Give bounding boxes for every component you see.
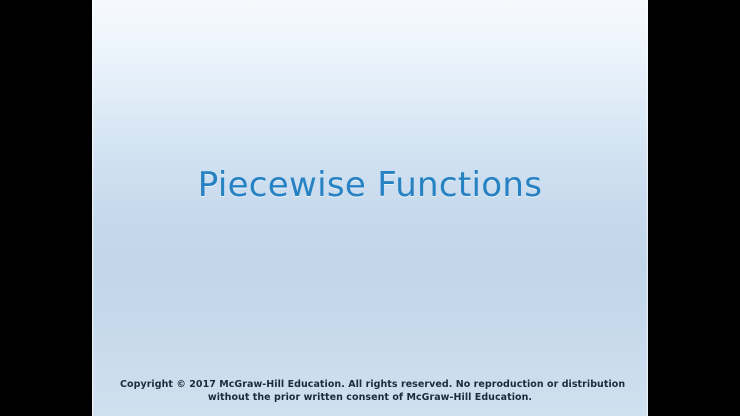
letterbox-bar-right bbox=[648, 0, 740, 416]
copyright-notice: Copyright © 2017 McGraw-Hill Education. … bbox=[120, 379, 620, 404]
copyright-line-2: without the prior written consent of McG… bbox=[120, 392, 620, 405]
slide-title: Piecewise Functions bbox=[92, 163, 648, 207]
letterbox-bar-left bbox=[0, 0, 92, 416]
video-frame: Piecewise Functions Copyright © 2017 McG… bbox=[0, 0, 740, 416]
copyright-line-1: Copyright © 2017 McGraw-Hill Education. … bbox=[120, 379, 620, 392]
presentation-slide: Piecewise Functions Copyright © 2017 McG… bbox=[92, 0, 648, 416]
